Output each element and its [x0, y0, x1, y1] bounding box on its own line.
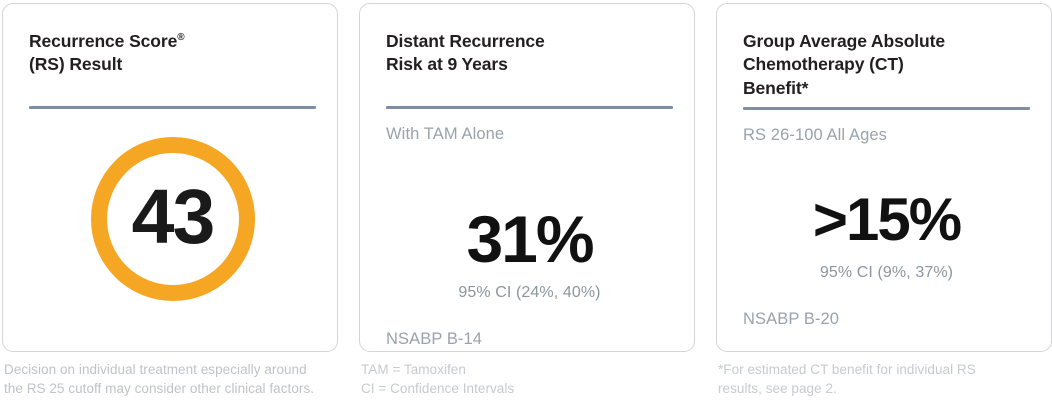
distant-recurrence-risk-footnote: TAM = Tamoxifen CI = Confidence Interval… [359, 360, 695, 398]
distant-recurrence-risk-subtitle: With TAM Alone [386, 125, 673, 145]
distant-recurrence-risk-confidence-interval: 95% CI (24%, 40%) [386, 284, 673, 302]
title-divider [386, 106, 673, 109]
chemotherapy-benefit-card-title: Group Average Absolute Chemotherapy (CT)… [743, 30, 1030, 100]
card-column-recurrence-score: Recurrence Score®(RS) Result 43 Decision… [2, 3, 338, 406]
score-ring-wrapper: 43 [91, 137, 255, 301]
card-title-line-2: (RS) Result [29, 54, 122, 74]
chemotherapy-benefit-subtitle: RS 26-100 All Ages [743, 126, 1030, 146]
distant-recurrence-risk-card: Distant Recurrence Risk at 9 Years With … [359, 3, 695, 352]
chemotherapy-benefit-footnote: *For estimated CT benefit for individual… [716, 360, 1052, 398]
distant-recurrence-risk-value: 31% [386, 206, 673, 272]
chemotherapy-benefit-card: Group Average Absolute Chemotherapy (CT)… [716, 3, 1052, 352]
score-ring-icon: 43 [91, 137, 255, 301]
distant-recurrence-risk-trial: NSABP B-14 [386, 330, 673, 349]
registered-trademark-icon: ® [177, 32, 184, 43]
card-title-line-1: Recurrence Score [29, 31, 177, 51]
recurrence-score-value-area: 43 [29, 109, 316, 301]
chemotherapy-benefit-trial: NSABP B-20 [743, 310, 1030, 329]
recurrence-score-footnote: Decision on individual treatment especia… [2, 360, 338, 398]
chemotherapy-benefit-confidence-interval: 95% CI (9%, 37%) [743, 264, 1030, 282]
result-summary-board: Recurrence Score®(RS) Result 43 Decision… [0, 0, 1052, 406]
recurrence-score-card-title: Recurrence Score®(RS) Result [29, 30, 316, 77]
card-column-chemotherapy-benefit: Group Average Absolute Chemotherapy (CT)… [716, 3, 1052, 406]
distant-recurrence-risk-card-title: Distant Recurrence Risk at 9 Years [386, 30, 673, 77]
card-column-distant-recurrence-risk: Distant Recurrence Risk at 9 Years With … [359, 3, 695, 406]
recurrence-score-card: Recurrence Score®(RS) Result 43 [2, 3, 338, 352]
title-divider [743, 107, 1030, 110]
recurrence-score-value: 43 [132, 179, 214, 256]
chemotherapy-benefit-value: >15% [743, 190, 1030, 250]
